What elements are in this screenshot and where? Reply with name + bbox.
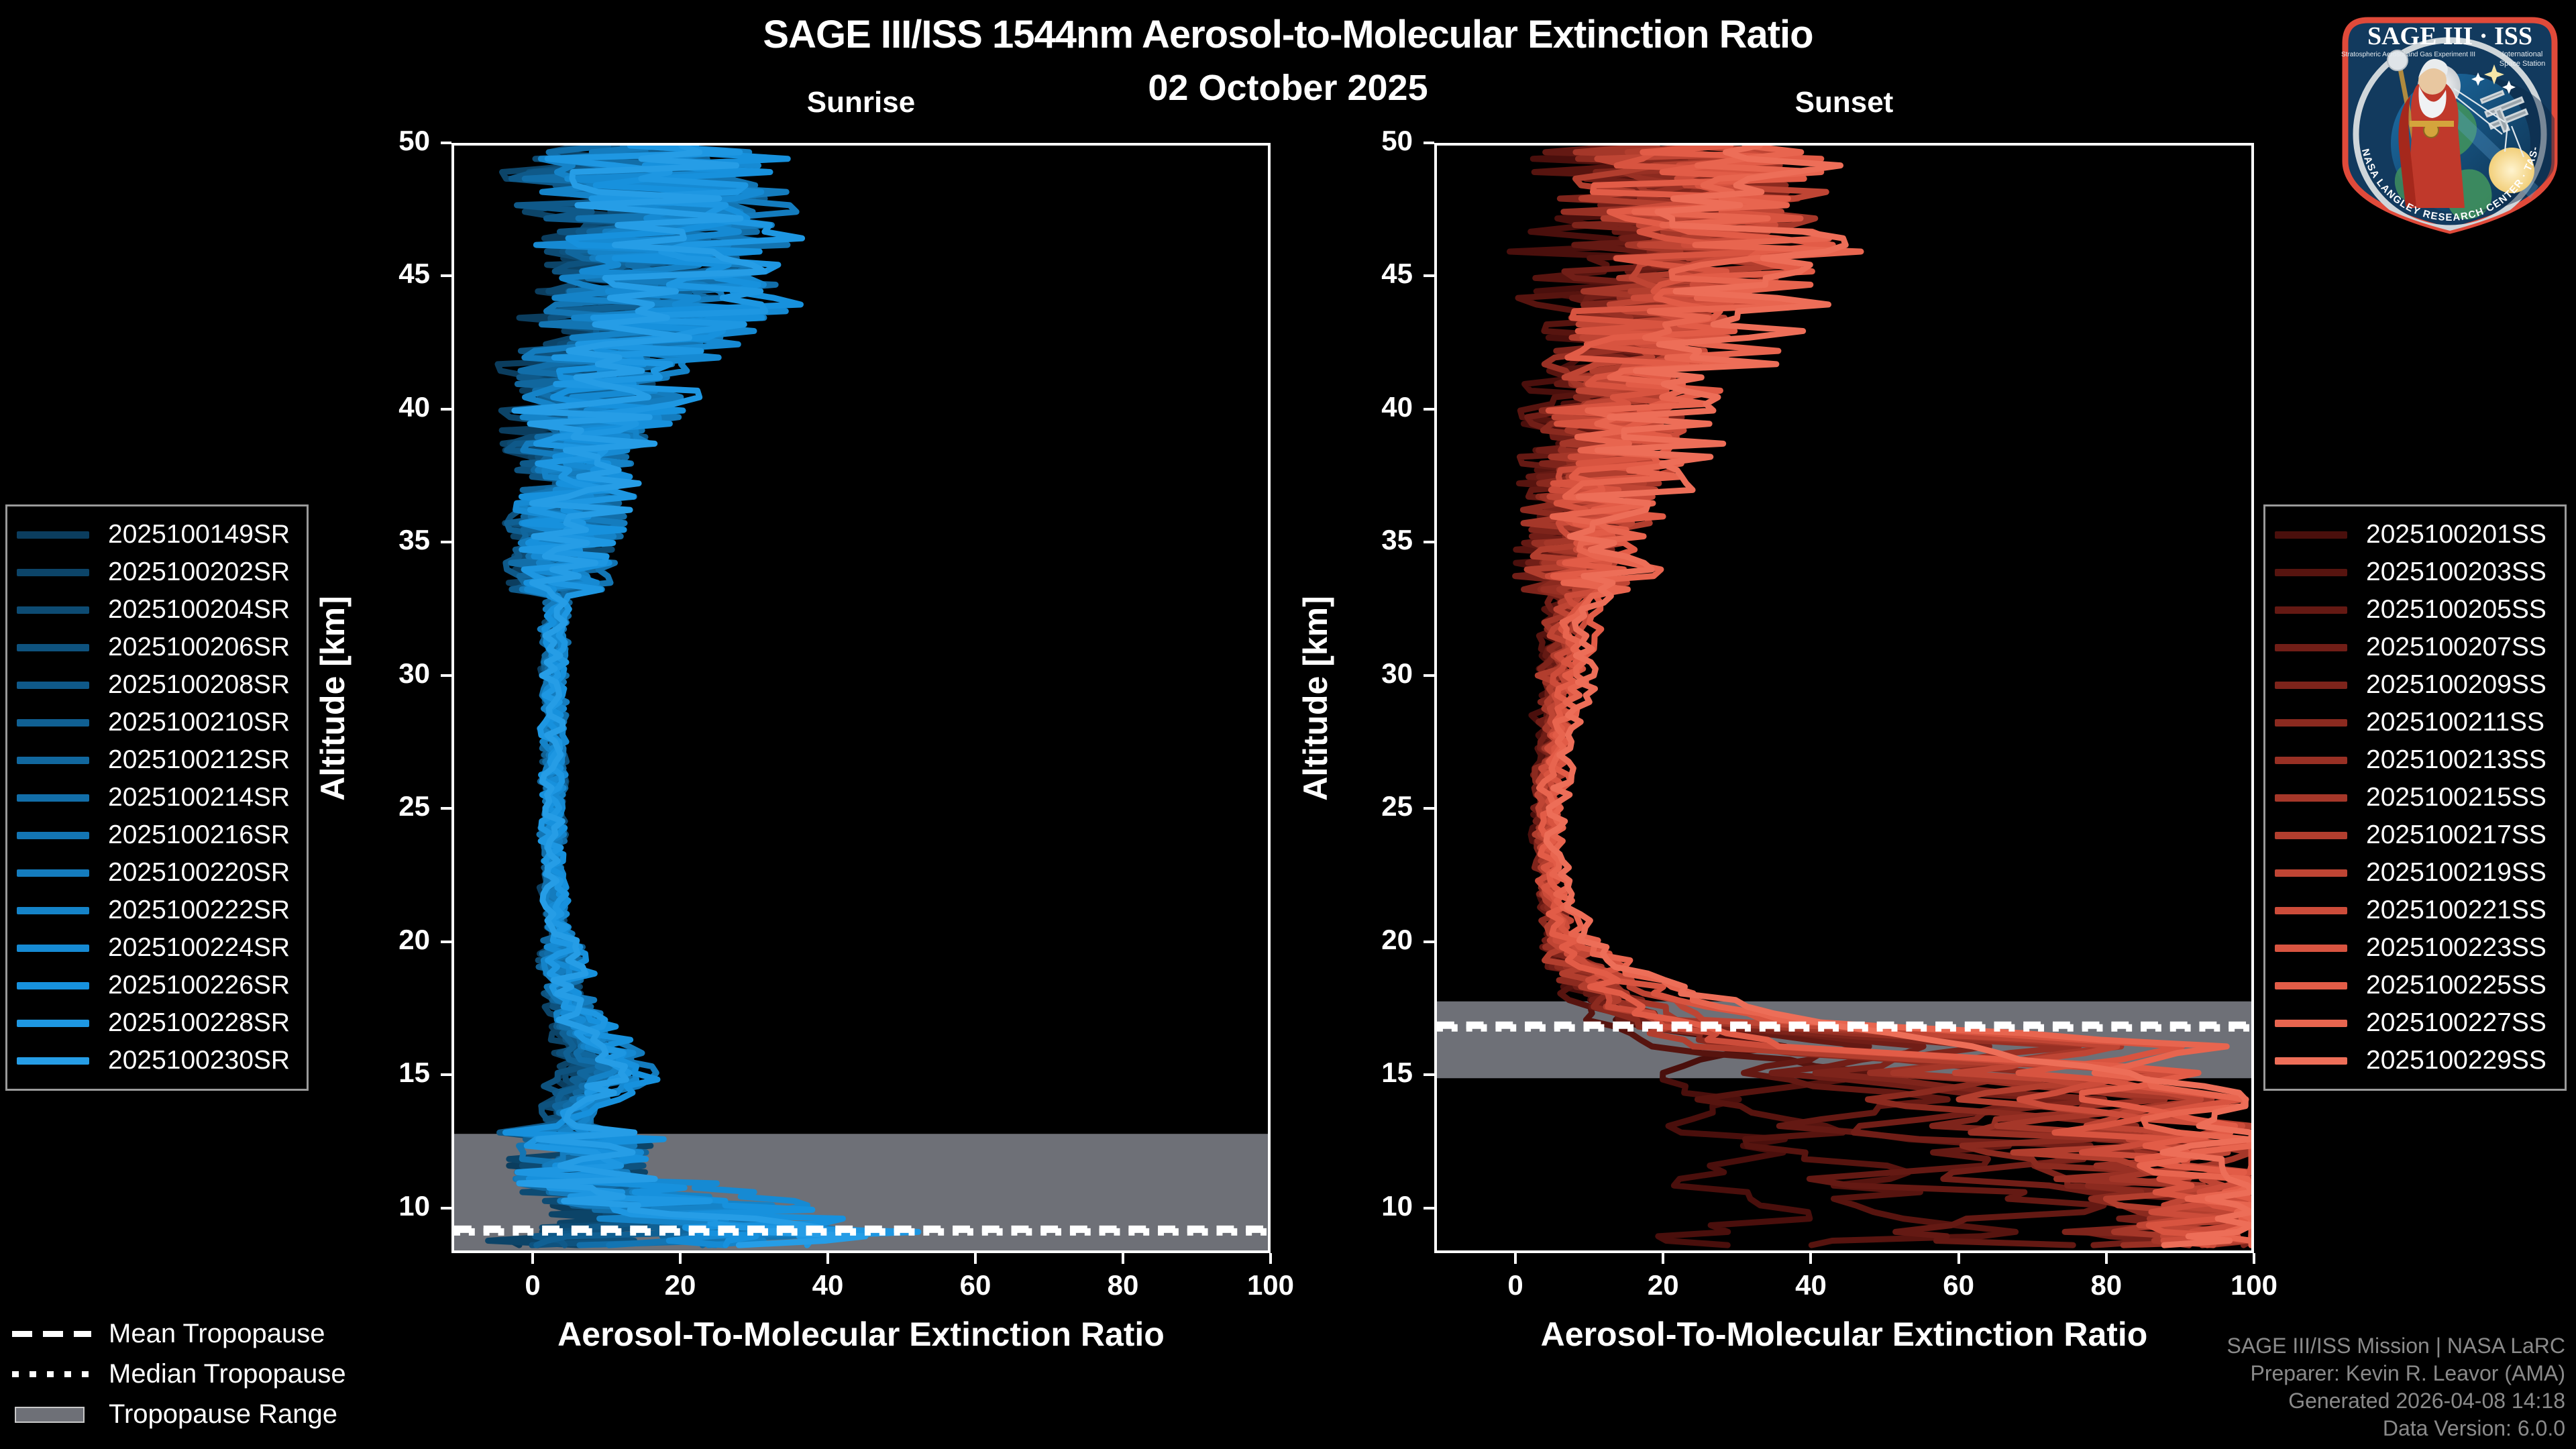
median-tropopause-label: Median Tropopause [109,1359,346,1389]
legend-color-swatch-icon [2275,531,2347,539]
legend-item-label: 2025100203SS [2366,557,2546,587]
x-tick-label: 60 [922,1269,1029,1301]
legend-item[interactable]: 2025100207SS [2275,629,2551,666]
legend-item-label: 2025100149SR [108,520,290,549]
x-tick-label: 80 [1069,1269,1177,1301]
sunrise-plot-area [451,143,1271,1253]
legend-item[interactable]: 2025100210SR [17,704,293,741]
legend-item-label: 2025100205SS [2366,595,2546,625]
legend-item-label: 2025100217SS [2366,820,2546,850]
x-tick-mark [1662,1253,1664,1264]
legend-item[interactable]: 2025100212SR [17,741,293,779]
legend-item-label: 2025100210SR [108,708,290,737]
x-tick-mark [1514,1253,1517,1264]
legend-color-swatch-icon [17,644,89,651]
legend-item[interactable]: 2025100205SS [2275,591,2551,629]
legend-color-swatch-icon [2275,982,2347,989]
legend-item[interactable]: 2025100220SR [17,854,293,892]
y-tick-mark [441,541,451,543]
credits-line-3: Generated 2026-04-08 14:18 [2227,1387,2565,1415]
legend-item[interactable]: 2025100211SS [2275,704,2551,741]
y-tick-mark [441,142,451,144]
x-tick-label: 0 [479,1269,586,1301]
legend-item-label: 2025100226SR [108,971,290,1000]
x-tick-label: 20 [1609,1269,1717,1301]
x-tick-mark [1957,1253,1960,1264]
y-tick-label: 30 [350,657,430,690]
legend-item-label: 2025100201SS [2366,520,2546,549]
legend-item-label: 2025100206SR [108,633,290,662]
y-tick-mark [441,1073,451,1076]
legend-item-label: 2025100213SS [2366,745,2546,775]
legend-color-swatch-icon [2275,569,2347,576]
legend-item[interactable]: 2025100224SR [17,929,293,967]
x-tick-mark [679,1253,682,1264]
legend-color-swatch-icon [17,907,89,914]
legend-item[interactable]: 2025100219SS [2275,854,2551,892]
credits-block: SAGE III/ISS Mission | NASA LaRC Prepare… [2227,1332,2565,1442]
legend-item-label: 2025100214SR [108,783,290,812]
legend-color-swatch-icon [17,1020,89,1027]
legend-color-swatch-icon [17,569,89,576]
sunset-profile-svg [1437,146,2251,1250]
y-tick-label: 45 [1332,258,1413,290]
x-tick-label: 20 [627,1269,734,1301]
legend-color-swatch-icon [2275,606,2347,614]
sunrise-profile-svg [454,146,1268,1250]
legend-color-swatch-icon [2275,832,2347,839]
y-tick-mark [1424,142,1434,144]
x-tick-label: 40 [1757,1269,1864,1301]
x-tick-mark [826,1253,829,1264]
legend-item[interactable]: 2025100221SS [2275,892,2551,929]
y-tick-mark [441,274,451,277]
legend-color-swatch-icon [17,832,89,839]
legend-item[interactable]: 2025100225SS [2275,967,2551,1004]
x-tick-label: 100 [2200,1269,2308,1301]
logo-subtitle-left: Stratospheric Aerosol and Gas Experiment… [2341,51,2475,58]
legend-item[interactable]: 2025100206SR [17,629,293,666]
y-tick-mark [441,408,451,411]
legend-item-label: 2025100225SS [2366,971,2546,1000]
page-title: SAGE III/ISS 1544nm Aerosol-to-Molecular… [0,12,2576,57]
legend-color-swatch-icon [17,869,89,877]
legend-item[interactable]: 2025100201SS [2275,516,2551,553]
legend-color-swatch-icon [17,531,89,539]
y-tick-label: 25 [1332,790,1413,822]
x-tick-label: 0 [1462,1269,1569,1301]
y-tick-label: 45 [350,258,430,290]
sunset-panel-label: Sunset [1434,86,2254,119]
legend-color-swatch-icon [2275,907,2347,914]
legend-item[interactable]: 2025100204SR [17,591,293,629]
legend-color-swatch-icon [2275,757,2347,764]
x-axis-title: Aerosol-To-Molecular Extinction Ratio [451,1315,1271,1354]
legend-item[interactable]: 2025100216SR [17,816,293,854]
legend-color-swatch-icon [2275,1020,2347,1027]
mean-tropopause-label: Mean Tropopause [109,1319,325,1349]
y-tick-label: 35 [350,524,430,556]
legend-item[interactable]: 2025100229SS [2275,1042,2551,1079]
y-tick-mark [1424,1207,1434,1210]
legend-color-swatch-icon [17,682,89,689]
y-tick-label: 25 [350,790,430,822]
legend-color-swatch-icon [2275,682,2347,689]
legend-item[interactable]: 2025100214SR [17,779,293,816]
y-tick-label: 10 [350,1190,430,1222]
tropopause-range-label: Tropopause Range [109,1399,337,1430]
median-tropopause-line-icon [12,1365,91,1383]
logo-subtitle-right-2: Space Station [2500,60,2546,68]
sunset-event-legend[interactable]: 2025100201SS2025100203SS2025100205SS2025… [2263,504,2567,1091]
legend-color-swatch-icon [17,606,89,614]
y-tick-mark [1424,408,1434,411]
legend-item[interactable]: 2025100149SR [17,516,293,553]
legend-color-swatch-icon [2275,794,2347,802]
legend-item-label: 2025100224SR [108,933,290,963]
legend-item-label: 2025100208SR [108,670,290,700]
credits-line-2: Preparer: Kevin R. Leavor (AMA) [2227,1360,2565,1387]
legend-item[interactable]: 2025100213SS [2275,741,2551,779]
x-axis-title: Aerosol-To-Molecular Extinction Ratio [1434,1315,2254,1354]
y-tick-label: 35 [1332,524,1413,556]
y-tick-mark [1424,674,1434,677]
legend-item[interactable]: 2025100230SR [17,1042,293,1079]
legend-item[interactable]: 2025100215SS [2275,779,2551,816]
y-tick-mark [1424,1073,1434,1076]
x-tick-mark [1809,1253,1812,1264]
legend-item[interactable]: 2025100223SS [2275,929,2551,967]
legend-item-label: 2025100204SR [108,595,290,625]
legend-item[interactable]: 2025100227SS [2275,1004,2551,1042]
legend-color-swatch-icon [17,945,89,952]
legend-item-label: 2025100230SR [108,1046,290,1075]
y-tick-label: 40 [1332,391,1413,423]
y-tick-label: 15 [350,1057,430,1089]
x-tick-label: 80 [2053,1269,2160,1301]
y-tick-mark [1424,941,1434,943]
legend-color-swatch-icon [2275,1057,2347,1065]
sunset-plot-area [1434,143,2254,1253]
y-tick-label: 10 [1332,1190,1413,1222]
legend-color-swatch-icon [2275,719,2347,727]
x-tick-mark [2253,1253,2255,1264]
logo-subtitle-right-1: International [2502,50,2543,58]
legend-item[interactable]: 2025100226SR [17,967,293,1004]
legend-item[interactable]: 2025100202SR [17,553,293,591]
x-tick-mark [531,1253,534,1264]
y-tick-label: 20 [350,924,430,956]
sunrise-panel-label: Sunrise [451,86,1271,119]
legend-item[interactable]: 2025100208SR [17,666,293,704]
y-tick-mark [1424,807,1434,810]
legend-item-label: 2025100227SS [2366,1008,2546,1038]
legend-item[interactable]: 2025100209SS [2275,666,2551,704]
sunrise-event-legend[interactable]: 2025100149SR2025100202SR2025100204SR2025… [5,504,309,1091]
y-tick-mark [1424,274,1434,277]
mean-tropopause-line-icon [12,1325,91,1342]
legend-item-label: 2025100212SR [108,745,290,775]
legend-item-label: 2025100229SS [2366,1046,2546,1075]
legend-color-swatch-icon [17,757,89,764]
x-tick-mark [1269,1253,1272,1264]
credits-line-1: SAGE III/ISS Mission | NASA LaRC [2227,1332,2565,1360]
x-tick-label: 60 [1905,1269,2012,1301]
x-tick-label: 40 [774,1269,881,1301]
legend-item-label: 2025100202SR [108,557,290,587]
legend-item[interactable]: 2025100228SR [17,1004,293,1042]
legend-item-tropopause-range: Tropopause Range [12,1394,346,1434]
legend-item-label: 2025100207SS [2366,633,2546,662]
y-axis-title: Altitude [km] [1296,596,1335,801]
x-tick-mark [2105,1253,2108,1264]
credits-line-4: Data Version: 6.0.0 [2227,1415,2565,1442]
legend-color-swatch-icon [2275,945,2347,952]
legend-item[interactable]: 2025100203SS [2275,553,2551,591]
y-tick-label: 40 [350,391,430,423]
legend-item-label: 2025100211SS [2366,708,2544,737]
logo-title: SAGE III · ISS [2367,22,2532,50]
legend-color-swatch-icon [2275,869,2347,877]
legend-item-label: 2025100223SS [2366,933,2546,963]
y-tick-label: 20 [1332,924,1413,956]
legend-color-swatch-icon [17,794,89,802]
legend-item-label: 2025100221SS [2366,896,2546,925]
legend-item-label: 2025100219SS [2366,858,2546,888]
y-axis-title: Altitude [km] [313,596,352,801]
y-tick-label: 50 [350,125,430,157]
legend-item-label: 2025100215SS [2366,783,2546,812]
x-tick-mark [1122,1253,1124,1264]
y-tick-mark [441,941,451,943]
legend-color-swatch-icon [17,719,89,727]
y-tick-mark [1424,541,1434,543]
legend-color-swatch-icon [17,982,89,989]
legend-item-label: 2025100209SS [2366,670,2546,700]
y-tick-mark [441,807,451,810]
legend-color-swatch-icon [2275,644,2347,651]
legend-item-label: 2025100228SR [108,1008,290,1038]
y-tick-label: 15 [1332,1057,1413,1089]
x-tick-mark [974,1253,977,1264]
legend-item-mean-tropopause: Mean Tropopause [12,1313,346,1354]
legend-item-label: 2025100220SR [108,858,290,888]
tropopause-legend: Mean Tropopause Median Tropopause Tropop… [12,1313,346,1434]
legend-item-median-tropopause: Median Tropopause [12,1354,346,1394]
legend-item[interactable]: 2025100217SS [2275,816,2551,854]
legend-item-label: 2025100216SR [108,820,290,850]
y-tick-label: 30 [1332,657,1413,690]
legend-item-label: 2025100222SR [108,896,290,925]
y-tick-mark [441,674,451,677]
legend-item[interactable]: 2025100222SR [17,892,293,929]
legend-color-swatch-icon [17,1057,89,1065]
sage-iii-iss-mission-patch-logo: SAGE III · ISS Stratospheric Aerosol and… [2329,3,2571,241]
tropopause-range-swatch-icon [12,1405,91,1423]
y-tick-label: 50 [1332,125,1413,157]
y-tick-mark [441,1207,451,1210]
x-tick-label: 100 [1217,1269,1324,1301]
